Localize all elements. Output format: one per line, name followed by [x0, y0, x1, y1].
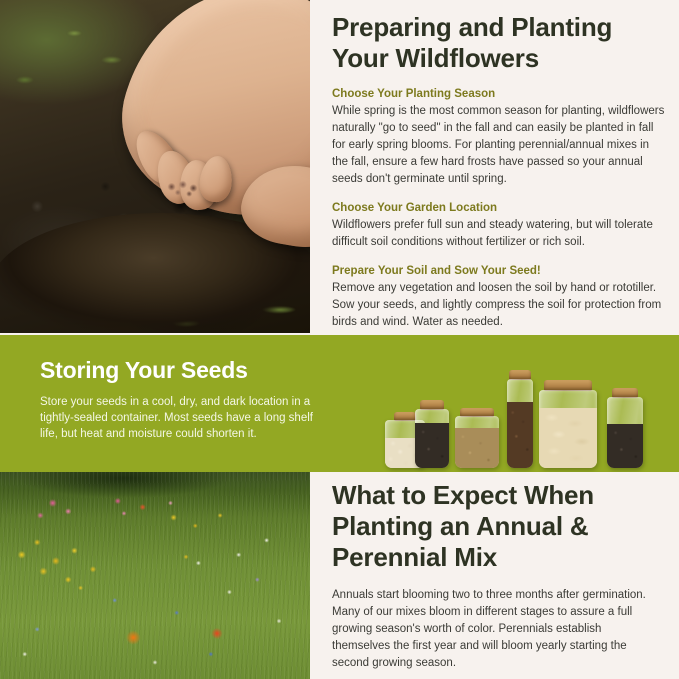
subheading-prepare-soil: Prepare Your Soil and Sow Your Seed! — [332, 264, 667, 279]
expectations-text-column: What to Expect When Planting an Annual &… — [332, 480, 662, 672]
cork-topped-glass-seed-jars-photo — [385, 353, 665, 468]
seed-fill-5 — [539, 408, 597, 468]
wildflower-meadow-photo — [0, 472, 310, 679]
section-preparing-and-planting: Preparing and Planting Your Wildflowers … — [0, 0, 679, 335]
body-garden-location: Wildflowers prefer full sun and steady w… — [332, 217, 667, 251]
planting-block-location: Choose Your Garden Location Wildflowers … — [332, 201, 667, 251]
expectations-body: Annuals start blooming two to three mont… — [332, 587, 662, 672]
section-what-to-expect: What to Expect When Planting an Annual &… — [0, 472, 679, 679]
seed-jar-2 — [415, 400, 449, 468]
seeds-in-palm — [164, 178, 206, 200]
subheading-planting-season: Choose Your Planting Season — [332, 87, 667, 102]
planting-text-column: Preparing and Planting Your Wildflowers … — [332, 12, 667, 331]
seed-jar-3 — [455, 408, 499, 468]
storing-text-column: Storing Your Seeds Store your seeds in a… — [40, 357, 330, 442]
seed-jar-6 — [607, 388, 643, 468]
hands-sowing-seeds-in-soil-photo — [0, 0, 310, 333]
planting-block-season: Choose Your Planting Season While spring… — [332, 87, 667, 188]
page-title: Preparing and Planting Your Wildflowers — [332, 12, 652, 74]
seed-jar-5 — [539, 380, 597, 468]
glass-body-4 — [507, 379, 533, 468]
storing-heading: Storing Your Seeds — [40, 357, 330, 384]
seed-fill-2 — [415, 423, 449, 468]
storing-body: Store your seeds in a cool, dry, and dar… — [40, 394, 330, 442]
meadow-flowers-texture — [0, 472, 310, 679]
body-prepare-soil: Remove any vegetation and loosen the soi… — [332, 280, 667, 331]
seed-fill-4 — [507, 402, 533, 468]
glass-body-6 — [607, 397, 643, 468]
seed-fill-3 — [455, 428, 499, 468]
seed-fill-6 — [607, 424, 643, 468]
glass-body-2 — [415, 409, 449, 468]
infographic-page: Preparing and Planting Your Wildflowers … — [0, 0, 679, 679]
subheading-garden-location: Choose Your Garden Location — [332, 201, 667, 216]
planting-block-soil: Prepare Your Soil and Sow Your Seed! Rem… — [332, 264, 667, 331]
expectations-heading: What to Expect When Planting an Annual &… — [332, 480, 662, 573]
glass-body-3 — [455, 416, 499, 468]
seed-jar-4 — [507, 370, 533, 468]
glass-body-5 — [539, 390, 597, 468]
body-planting-season: While spring is the most common season f… — [332, 103, 667, 188]
section-storing-your-seeds: Storing Your Seeds Store your seeds in a… — [0, 335, 679, 472]
